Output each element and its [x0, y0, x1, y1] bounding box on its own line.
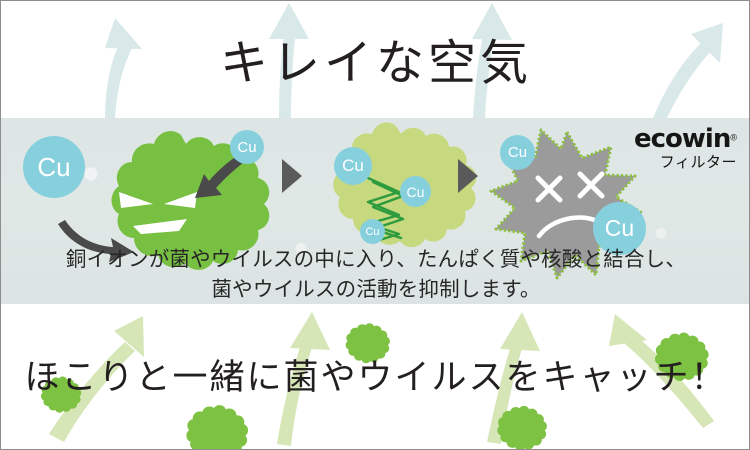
cu-label: Cu — [237, 139, 256, 156]
germ-particle-icon-2 — [186, 405, 248, 450]
cu-label: Cu — [508, 144, 527, 161]
cu-label: Cu — [407, 184, 425, 200]
germ-particle-icon-4 — [497, 406, 547, 450]
cu-label: Cu — [37, 152, 70, 183]
bottom-band-catch: ほこりと一緒に菌やウイルスをキャッチ！ — [1, 304, 750, 450]
logo-wordmark: ecowin — [634, 126, 730, 152]
cu-circle-stage1-large: Cu — [23, 136, 85, 198]
top-band-clean-air: キレイな空気 — [1, 1, 750, 118]
mechanism-caption: 銅イオンが菌やウイルスの中に入り、たんぱく質や核酸と結合し、 菌やウイルスの活動… — [1, 244, 750, 304]
bottom-caption: ほこりと一緒に菌やウイルスをキャッチ！ — [1, 349, 750, 400]
mechanism-caption-line-2: 菌やウイルスの活動を抑制します。 — [1, 274, 750, 304]
stage-separator-1 — [282, 159, 302, 193]
cu-circle-stage3-small: Cu — [500, 135, 535, 170]
page-title: キレイな空気 — [1, 23, 750, 93]
logo-subtitle: フィルター — [634, 155, 737, 170]
cu-circle-stage2-a: Cu — [334, 147, 372, 185]
cu-circle-stage1-small: Cu — [230, 130, 264, 164]
stage-separator-2 — [458, 159, 478, 193]
mechanism-caption-line-1: 銅イオンが菌やウイルスの中に入り、たんぱく質や核酸と結合し、 — [1, 244, 750, 274]
cu-label: Cu — [365, 226, 379, 238]
cu-circle-stage2-b: Cu — [400, 176, 431, 207]
registered-trademark-icon: ® — [730, 133, 737, 143]
infographic-poster: キレイな空気 ecowin® フィルター — [0, 0, 750, 450]
cu-label: Cu — [605, 215, 634, 242]
mechanism-band: ecowin® フィルター — [1, 118, 750, 304]
ecowin-logo: ecowin® フィルター — [634, 126, 737, 170]
cu-label: Cu — [342, 156, 364, 176]
cu-circle-stage2-c: Cu — [360, 219, 385, 244]
